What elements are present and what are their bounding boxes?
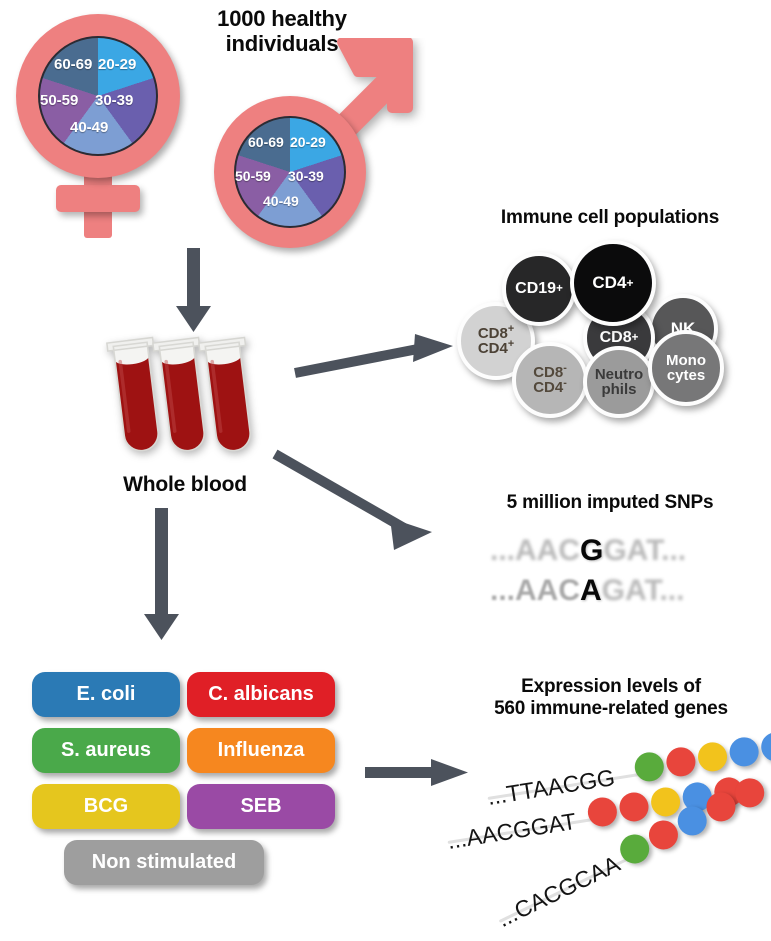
cell-neutrophils: Neutro phils xyxy=(583,346,655,418)
arrow-blood-to-snps xyxy=(272,450,452,560)
stimulus-s-aureus[interactable]: S. aureus xyxy=(32,728,180,773)
allele-row-a: ...AACAGAT... xyxy=(490,574,684,608)
arrow-blood-to-stimuli xyxy=(135,508,195,648)
pie-label-40-49: 40-49 xyxy=(263,193,299,209)
bead-red xyxy=(664,745,697,778)
bead-yellow xyxy=(696,740,729,773)
cell-label: Mono xyxy=(666,353,706,368)
stimulus-bcg[interactable]: BCG xyxy=(32,784,180,829)
strand-sequence: ...CACGCAA xyxy=(493,850,624,933)
pie-label-50-59: 50-59 xyxy=(40,92,78,109)
pie-label-50-59: 50-59 xyxy=(235,168,271,184)
bead-red xyxy=(617,790,650,823)
cell-monocytes: Mono cytes xyxy=(648,330,724,406)
female-symbol: 20-29 30-39 40-49 50-59 60-69 xyxy=(8,8,188,238)
expression-strands: ...TTAACGG ...AACGGAT ...CACGCAA xyxy=(440,738,771,918)
stimulus-e-coli[interactable]: E. coli xyxy=(32,672,180,717)
cell-sup: + xyxy=(508,323,514,335)
pie-label-60-69: 60-69 xyxy=(54,56,92,73)
cell-label2: cytes xyxy=(667,368,705,383)
pie-label-30-39: 30-39 xyxy=(288,168,324,184)
pie-label-30-39: 30-39 xyxy=(95,92,133,109)
stimulus-c-albicans[interactable]: C. albicans xyxy=(187,672,335,717)
cell-cd19-positive: CD19+ xyxy=(502,252,576,326)
immune-cell-bubbles: CD19+ CD4+ NK CD8+ CD8+ CD4+ CD8- CD4- N… xyxy=(455,240,765,420)
whole-blood-tubes xyxy=(100,330,280,470)
cell-label: CD8 xyxy=(533,364,563,381)
arrow-blood-to-immune xyxy=(293,330,463,380)
whole-blood-label: Whole blood xyxy=(85,473,285,497)
expression-title-line2: 560 immune-related genes xyxy=(455,698,767,720)
stimulus-influenza[interactable]: Influenza xyxy=(187,728,335,773)
bead-green xyxy=(633,750,666,783)
stimulus-label: BCG xyxy=(84,795,128,818)
female-age-pie: 20-29 30-39 40-49 50-59 60-69 xyxy=(38,36,158,156)
page-title-line1: 1000 healthy xyxy=(182,6,382,31)
male-age-pie: 20-29 30-39 40-49 50-59 60-69 xyxy=(234,116,346,228)
allele-suffix: GAT... xyxy=(602,574,685,607)
arrow-cohort-to-blood xyxy=(165,248,225,338)
stimulus-label: S. aureus xyxy=(61,739,151,762)
male-symbol: 20-29 30-39 40-49 50-59 60-69 xyxy=(196,38,426,253)
stimulus-label: E. coli xyxy=(77,683,136,706)
stimulation-conditions: E. coli C. albicans S. aureus Influenza … xyxy=(32,672,342,897)
cell-sup2: + xyxy=(508,338,514,350)
stimulus-label: SEB xyxy=(240,795,281,818)
figure-canvas: 1000 healthy individuals 20-29 30-39 40-… xyxy=(0,0,771,922)
stimulus-label: C. albicans xyxy=(208,683,314,706)
allele-variant: G xyxy=(580,534,603,567)
stimulus-non-stimulated[interactable]: Non stimulated xyxy=(64,840,264,885)
snp-sequences: ...AACGGAT... ...AACAGAT... xyxy=(470,530,760,620)
allele-prefix: ...AAC xyxy=(490,534,580,567)
cell-label: CD8 xyxy=(600,330,632,346)
stimulus-seb[interactable]: SEB xyxy=(187,784,335,829)
cell-label2: phils xyxy=(601,382,636,397)
pie-label-40-49: 40-49 xyxy=(70,119,108,136)
allele-suffix: GAT... xyxy=(603,534,686,567)
expression-title-line1: Expression levels of xyxy=(455,676,767,698)
cell-sup2: - xyxy=(563,377,567,389)
immune-section-title: Immune cell populations xyxy=(455,207,765,229)
female-cross-bar xyxy=(56,185,140,212)
bead-blue xyxy=(759,730,771,763)
pie-label-20-29: 20-29 xyxy=(290,134,326,150)
allele-prefix: ...AAC xyxy=(490,574,580,607)
strand-sequence: ...AACGGAT xyxy=(445,808,578,855)
pie-label-60-69: 60-69 xyxy=(248,134,284,150)
cell-sup: - xyxy=(563,362,567,374)
bead-red xyxy=(586,795,619,828)
pie-label-20-29: 20-29 xyxy=(98,56,136,73)
cell-label2: CD4 xyxy=(478,340,508,357)
cell-cd8-cd4-double-negative: CD8- CD4- xyxy=(512,342,588,418)
cell-cd4-positive: CD4+ xyxy=(570,240,656,326)
cell-label: CD8 xyxy=(478,325,508,342)
cell-label2: CD4 xyxy=(533,379,563,396)
bead-blue xyxy=(728,735,761,768)
allele-variant: A xyxy=(580,574,602,607)
allele-row-g: ...AACGGAT... xyxy=(490,534,686,568)
stimulus-label: Influenza xyxy=(218,739,305,762)
stimulus-label: Non stimulated xyxy=(92,851,236,874)
snps-section-title: 5 million imputed SNPs xyxy=(455,492,765,514)
cell-label: CD4 xyxy=(592,274,626,292)
expression-section-title: Expression levels of 560 immune-related … xyxy=(455,676,767,720)
cell-label: Neutro xyxy=(595,367,643,382)
cell-label: CD19 xyxy=(515,281,556,297)
